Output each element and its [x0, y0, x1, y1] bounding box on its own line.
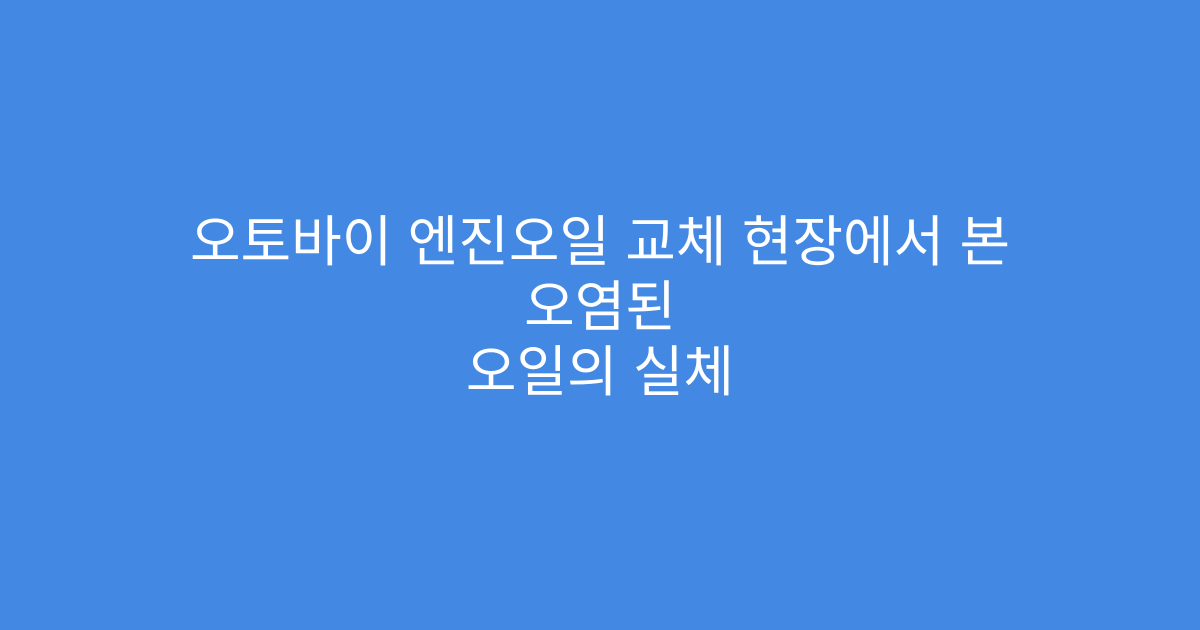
og-image-card: 오토바이 엔진오일 교체 현장에서 본 오염된 오일의 실체 [0, 0, 1200, 630]
title-block: 오토바이 엔진오일 교체 현장에서 본 오염된 오일의 실체 [120, 210, 1080, 405]
page-title: 오토바이 엔진오일 교체 현장에서 본 오염된 오일의 실체 [140, 210, 1060, 405]
